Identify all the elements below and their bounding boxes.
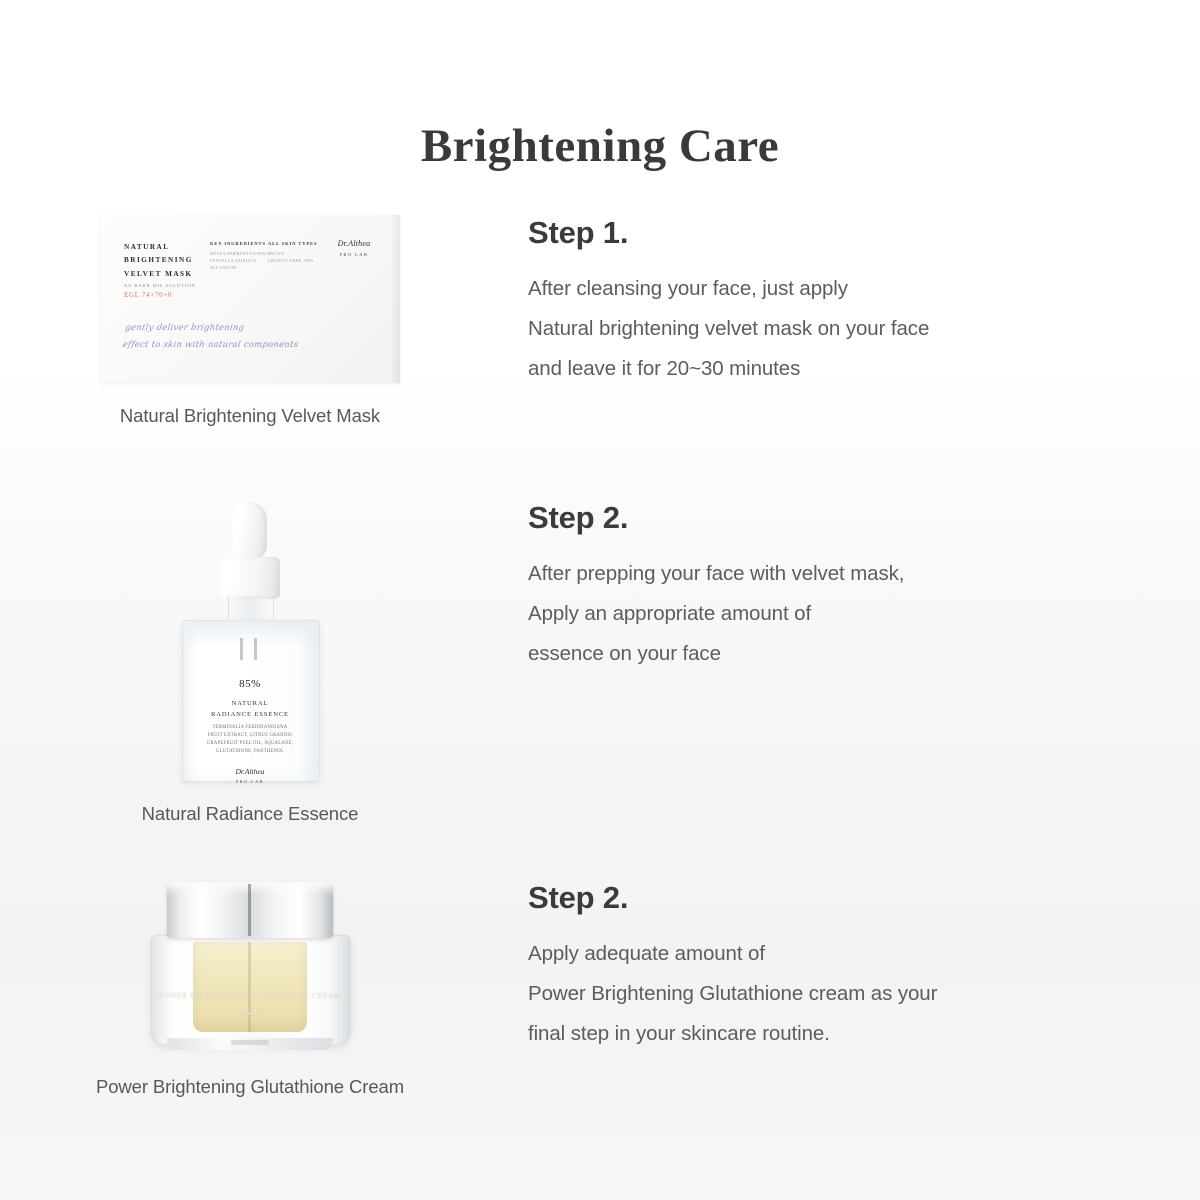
mask-sub-label: AU BARR MIL SOLUTION	[124, 283, 196, 288]
mask-sub-red-code: EGL 74+70+0	[124, 291, 172, 299]
mask-skin-types-line-2: CRUELTY-FREE, PHA	[268, 257, 317, 264]
step-1-line-1: After cleansing your face, just apply	[528, 269, 1168, 309]
jar-brand-name: Dr.Althea	[151, 1007, 349, 1017]
step-1-line-2: Natural brightening velvet mask on your …	[528, 309, 1168, 349]
step-1-heading: Step 1.	[528, 215, 1168, 251]
step-row-1: NATURAL BRIGHTENING VELVET MASK AU BARR …	[0, 215, 1200, 427]
product-caption-cream: Power Brightening Glutathione Cream	[96, 1076, 404, 1098]
mask-skin-types-column: ALL SKIN TYPES VEGAN CRUELTY-FREE, PHA	[268, 241, 317, 264]
mask-key-ingredients-line-1: HOVEA FERMENT EXTRACT	[210, 250, 271, 257]
bottle-percent: 85%	[182, 668, 318, 692]
glutathione-cream-jar: POWER BRIGHTENING GLUTATHIONE CREAM Dr.A…	[145, 880, 355, 1060]
mask-script-line-2: effect to skin with natural components	[121, 336, 299, 353]
mask-brand-logo: Dr.Althea · PRO LAB ·	[334, 239, 374, 257]
step-1-body: After cleansing your face, just apply Na…	[528, 269, 1168, 389]
mask-key-ingredients-line-3: ALLANTOIN	[210, 264, 271, 271]
mask-title-line-1: NATURAL	[124, 241, 193, 254]
mask-title-line-2: BRIGHTENING	[124, 254, 193, 267]
bottle-percent-value: 85	[239, 678, 251, 690]
bottle-ingredient-line-1: TERMINALIA FERDINANDIANA	[188, 724, 312, 732]
step-2-heading: Step 2.	[528, 500, 1168, 536]
step-1-line-3: and leave it for 20~30 minutes	[528, 349, 1168, 389]
radiance-essence-bottle: 85% NATURAL RADIANCE ESSENCE TERMINALIA …	[170, 500, 330, 785]
bottle-name-line-1: NATURAL	[182, 699, 318, 710]
step-2-line-1: After prepping your face with velvet mas…	[528, 554, 1168, 594]
bottle-ingredients: TERMINALIA FERDINANDIANA FRUIT EXTRACT, …	[182, 724, 318, 756]
step-2-body: After prepping your face with velvet mas…	[528, 554, 1168, 674]
mask-brand-sublabel: · PRO LAB ·	[334, 252, 374, 257]
bottle-ingredient-line-4: GLUTATHIONE, PANTHENOL	[188, 748, 312, 756]
mask-skin-types-line-1: VEGAN	[268, 250, 317, 257]
velvet-mask-package: NATURAL BRIGHTENING VELVET MASK AU BARR …	[100, 215, 400, 383]
step-2-line-3: essence on your face	[528, 634, 1168, 674]
dropper-tube-left	[240, 638, 243, 660]
bottle-ingredient-line-3: GRAPEFRUIT PEEL OIL, SQUALANE,	[188, 740, 312, 748]
step-3-body: Apply adequate amount of Power Brighteni…	[528, 934, 1168, 1054]
step-row-2: 85% NATURAL RADIANCE ESSENCE TERMINALIA …	[0, 500, 1200, 825]
bottle-brand-sublabel: · PRO LAB ·	[182, 779, 318, 784]
page-title: Brightening Care	[0, 119, 1200, 173]
step-row-3: POWER BRIGHTENING GLUTATHIONE CREAM Dr.A…	[0, 880, 1200, 1098]
bottle-ingredient-line-2: FRUIT EXTRACT, CITRUS GRANDIS	[188, 732, 312, 740]
bottle-percent-unit: %	[251, 678, 261, 690]
mask-script-line-1: gently deliver brightening	[124, 319, 302, 336]
step-3-heading: Step 2.	[528, 880, 1168, 916]
step-3-line-2: Power Brightening Glutathione cream as y…	[528, 974, 1168, 1014]
step-2-line-2: Apply an appropriate amount of	[528, 594, 1168, 634]
jar-lid-seam	[248, 884, 251, 936]
jar-product-label: POWER BRIGHTENING GLUTATHIONE CREAM	[151, 992, 349, 1000]
bottle-label: 85% NATURAL RADIANCE ESSENCE TERMINALIA …	[182, 668, 318, 784]
mask-brand-name: Dr.Althea	[334, 239, 374, 248]
bottle-shoulder-highlight	[186, 621, 314, 647]
mask-key-ingredients-line-2: CENTELLA ASIATICA	[210, 257, 271, 264]
step-2-text: Step 2. After prepping your face with ve…	[500, 500, 1168, 825]
step-3-line-1: Apply adequate amount of	[528, 934, 1168, 974]
jar-base-mark	[231, 1040, 269, 1045]
jar-cream-seam	[248, 942, 251, 1032]
product-media-cream: POWER BRIGHTENING GLUTATHIONE CREAM Dr.A…	[0, 880, 500, 1098]
mask-key-ingredients-heading: KEY INGREDIENTS	[210, 241, 271, 246]
mask-skin-types-heading: ALL SKIN TYPES	[268, 241, 317, 246]
bottle-name-line-2: RADIANCE ESSENCE	[182, 710, 318, 721]
bottle-brand-name: Dr.Althea	[182, 767, 318, 776]
product-media-mask: NATURAL BRIGHTENING VELVET MASK AU BARR …	[0, 215, 500, 427]
product-caption-mask: Natural Brightening Velvet Mask	[120, 405, 380, 427]
product-media-essence: 85% NATURAL RADIANCE ESSENCE TERMINALIA …	[0, 500, 500, 825]
step-3-text: Step 2. Apply adequate amount of Power B…	[500, 880, 1168, 1098]
step-3-line-3: final step in your skincare routine.	[528, 1014, 1168, 1054]
dropper-tube-right	[254, 638, 257, 660]
brightening-care-page: Brightening Care NATURAL BRIGHTENING VEL…	[0, 0, 1200, 1200]
product-caption-essence: Natural Radiance Essence	[142, 803, 359, 825]
dropper-collar	[220, 557, 280, 599]
mask-handwritten-script: gently deliver brightening effect to ski…	[121, 319, 302, 353]
mask-package-title: NATURAL BRIGHTENING VELVET MASK	[124, 241, 193, 281]
mask-title-line-3: VELVET MASK	[124, 268, 193, 281]
bottle-product-name: NATURAL RADIANCE ESSENCE	[182, 699, 318, 720]
dropper-bulb	[232, 502, 267, 560]
step-1-text: Step 1. After cleansing your face, just …	[500, 215, 1168, 427]
mask-key-ingredients-column: KEY INGREDIENTS HOVEA FERMENT EXTRACT CE…	[210, 241, 271, 271]
